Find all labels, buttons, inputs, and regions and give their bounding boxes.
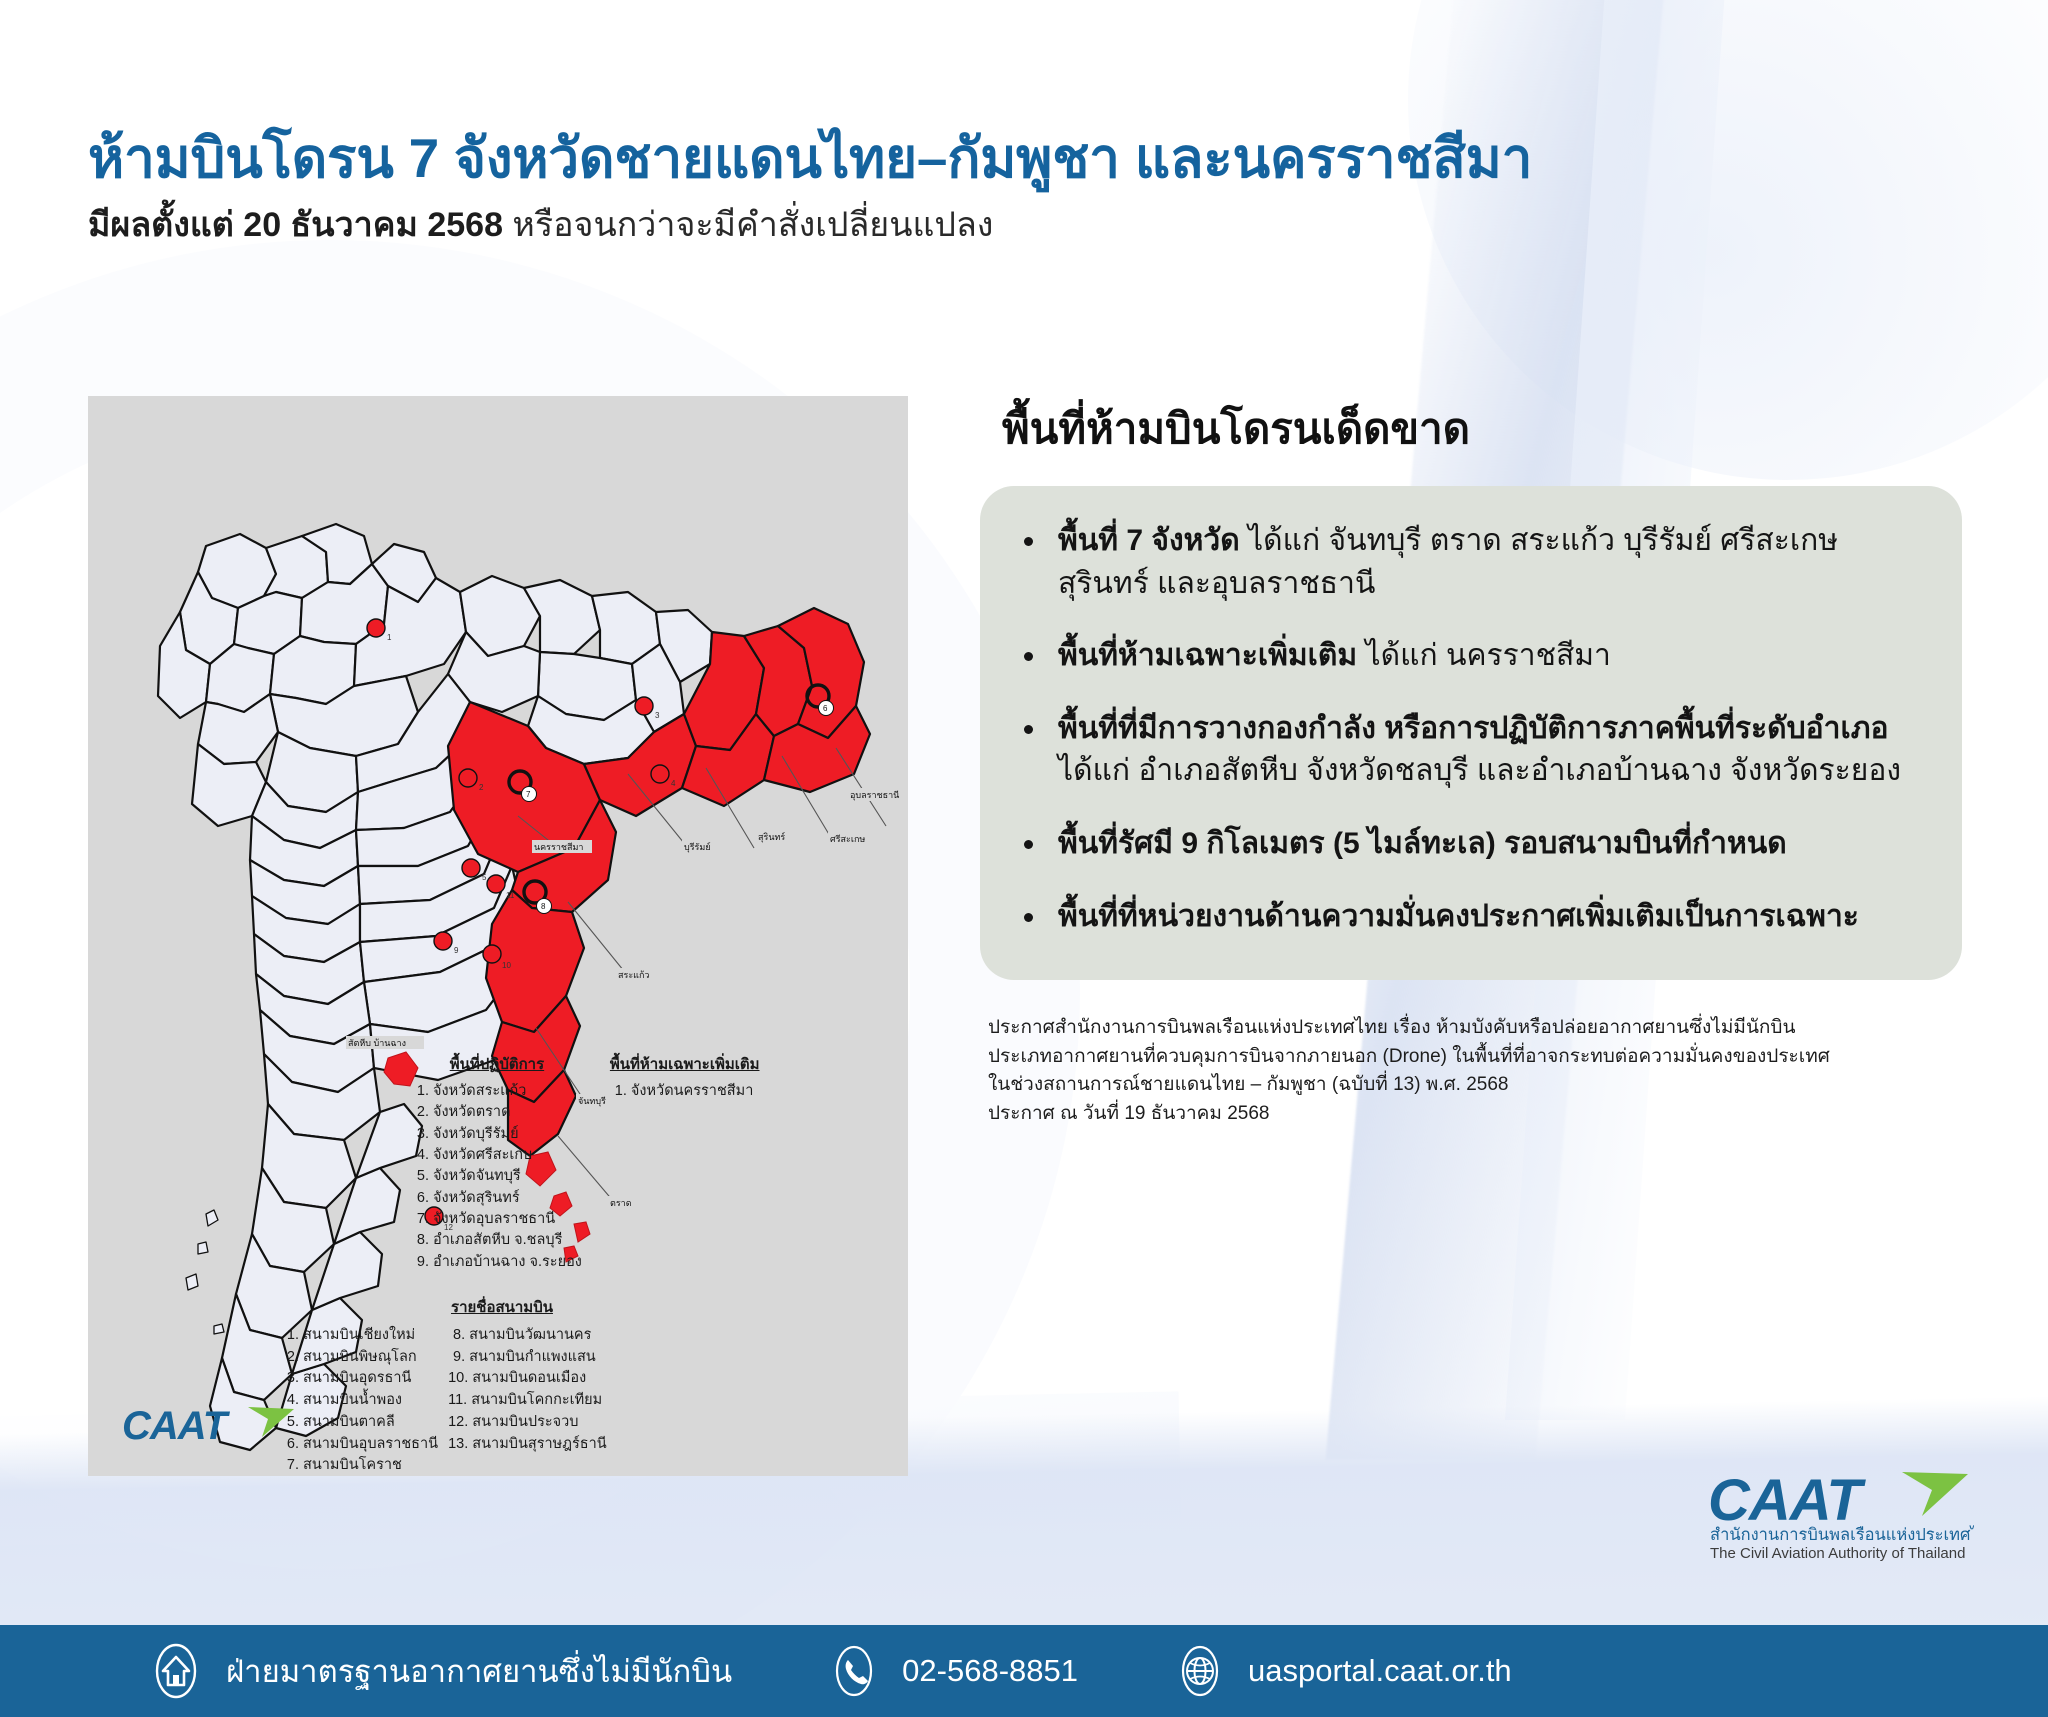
list-item: 1. จังหวัดนครราชสีมา — [610, 1081, 760, 1102]
svg-text:4: 4 — [671, 779, 676, 788]
bullet-bold-text: พื้นที่รัศมี 9 กิโลเมตร (5 ไมล์ทะเล) รอบ… — [1058, 827, 1787, 860]
bullet-bold-text: พื้นที่ที่มีการวางกองกำลัง หรือการปฏิบัต… — [1058, 712, 1889, 745]
svg-text:นครราชสีมา: นครราชสีมา — [534, 842, 583, 852]
header: ห้ามบินโดรน 7 จังหวัดชายแดนไทย–กัมพูชา แ… — [88, 128, 1948, 246]
footnote-line: ประเภทอากาศยานที่ควบคุมการบินจากภายนอก (… — [988, 1043, 1980, 1072]
footer-department-label: ฝ่ายมาตรฐานอากาศยานซึ่งไม่มีนักบิน — [226, 1646, 732, 1696]
svg-text:สระแก้ว: สระแก้ว — [618, 970, 649, 980]
list-item: 13. สนามบินสุราษฎร์ธานี — [448, 1434, 607, 1456]
svg-text:บุรีรัมย์: บุรีรัมย์ — [684, 841, 711, 853]
bullet-bold-text: พื้นที่ 7 จังหวัด — [1058, 524, 1240, 557]
map-province-label-sisaket: ศรีสะเกษ — [828, 832, 878, 845]
list-item: พื้นที่ที่มีการวางกองกำลัง หรือการปฏิบัต… — [1014, 708, 1922, 793]
subtitle-suffix: หรือจนกว่าจะมีคำสั่งเปลี่ยนแปลง — [503, 206, 993, 244]
bullet-dot-icon — [1024, 652, 1033, 661]
svg-text:สุรินทร์: สุรินทร์ — [758, 831, 785, 843]
airport-list-column-1: 1. สนามบินเชียงใหม่ 2. สนามบินพิษณุโลก 3… — [282, 1325, 438, 1476]
phone-icon — [828, 1645, 880, 1697]
svg-text:2: 2 — [479, 783, 484, 792]
list-item: 9. สนามบินกำแพงแสน — [448, 1347, 607, 1369]
list-item: พื้นที่ที่หน่วยงานด้านความมั่นคงประกาศเพ… — [1014, 896, 1922, 939]
bullet-dot-icon — [1024, 840, 1033, 849]
page-title: ห้ามบินโดรน 7 จังหวัดชายแดนไทย–กัมพูชา แ… — [88, 128, 1948, 190]
list-item: 3. จังหวัดบุรีรัมย์ — [412, 1124, 582, 1145]
airport-legend-heading: รายชื่อสนามบิน — [282, 1295, 722, 1319]
legend-operations-area: พื้นที่ปฏิบัติการ 1. จังหวัดสระแก้ว 2. จ… — [412, 1052, 582, 1273]
legend-additional-area: พื้นที่ห้ามเฉพาะเพิ่มเติม 1. จังหวัดนครร… — [610, 1052, 760, 1273]
caat-logo-icon: CAAT สำนักงานการบินพลเรือนแห่งประเทศไทย … — [1706, 1468, 1974, 1564]
list-item: 9. อำเภอบ้านฉาง จ.ระยอง — [412, 1252, 582, 1273]
caat-thai-name: สำนักงานการบินพลเรือนแห่งประเทศไทย — [1710, 1525, 1974, 1544]
footnote-line: ในช่วงสถานการณ์ชายแดนไทย – กัมพูชา (ฉบับ… — [988, 1071, 1980, 1100]
svg-text:6: 6 — [823, 704, 828, 713]
footer-website-url[interactable]: uasportal.caat.or.th — [1248, 1653, 1512, 1689]
list-item: 7. สนามบินโคราช — [282, 1455, 438, 1476]
footer-website[interactable]: uasportal.caat.or.th — [1174, 1645, 1512, 1697]
caat-swoosh-icon — [1902, 1472, 1968, 1516]
list-item: 8. อำเภอสัตหีบ จ.ชลบุรี — [412, 1230, 582, 1251]
restricted-bullet-list: พื้นที่ 7 จังหวัด ได้แก่ จันทบุรี ตราด ส… — [1014, 520, 1922, 938]
page-subtitle: มีผลตั้งแต่ 20 ธันวาคม 2568 หรือจนกว่าจะ… — [88, 204, 1948, 247]
list-item: พื้นที่ห้ามเฉพาะเพิ่มเติม ได้แก่ นครราชส… — [1014, 635, 1922, 678]
list-item: 10. สนามบินดอนเมือง — [448, 1368, 607, 1390]
list-item: 5. สนามบินตาคลี — [282, 1412, 438, 1434]
announcement-footnote: ประกาศสำนักงานการบินพลเรือนแห่งประเทศไทย… — [988, 1014, 1980, 1128]
list-item: 1. สนามบินเชียงใหม่ — [282, 1325, 438, 1347]
thailand-map-panel: .prov { fill:#eceef6; stroke:#111; strok… — [88, 396, 908, 1476]
list-item: 3. สนามบินอุดรธานี — [282, 1368, 438, 1390]
footer-department: ฝ่ายมาตรฐานอากาศยานซึ่งไม่มีนักบิน — [148, 1643, 732, 1699]
caat-logo: CAAT สำนักงานการบินพลเรือนแห่งประเทศไทย … — [1706, 1468, 1974, 1569]
list-item: 8. สนามบินวัฒนานคร — [448, 1325, 607, 1347]
list-item: 11. สนามบินโคกกะเทียม — [448, 1390, 607, 1412]
bullet-bold-text: พื้นที่ที่หน่วยงานด้านความมั่นคงประกาศเพ… — [1058, 900, 1859, 933]
footnote-line: ประกาศสำนักงานการบินพลเรือนแห่งประเทศไทย… — [988, 1014, 1980, 1043]
legend-additional-heading: พื้นที่ห้ามเฉพาะเพิ่มเติม — [610, 1052, 760, 1076]
bullet-dot-icon — [1024, 537, 1033, 546]
bullet-dot-icon — [1024, 725, 1033, 734]
list-item: 6. สนามบินอุบลราชธานี — [282, 1434, 438, 1456]
map-province-label-sattahip-banchang: สัตหีบ บ้านฉาง — [346, 1036, 424, 1049]
map-province-label-ubon: อุบลราชธานี — [848, 788, 908, 801]
caat-logo-icon: CAAT — [122, 1403, 297, 1449]
bullet-rest-text: ได้แก่ อำเภอสัตหีบ จังหวัดชลบุรี และอำเภ… — [1058, 754, 1901, 787]
list-item: 7. จังหวัดอุบลราชธานี — [412, 1209, 582, 1230]
svg-text:9: 9 — [454, 946, 459, 955]
svg-text:8: 8 — [541, 902, 546, 911]
legend-additional-list: 1. จังหวัดนครราชสีมา — [610, 1081, 760, 1102]
map-province-label-korat: นครราชสีมา — [532, 840, 592, 853]
footer-bar: ฝ่ายมาตรฐานอากาศยานซึ่งไม่มีนักบิน 02-56… — [0, 1625, 2048, 1717]
list-item: 5. จังหวัดจันทบุรี — [412, 1166, 582, 1187]
list-item: 12. สนามบินประจวบ — [448, 1412, 607, 1434]
bullet-dot-icon — [1024, 913, 1033, 922]
home-icon — [148, 1643, 204, 1699]
svg-text:11: 11 — [506, 891, 515, 900]
svg-text:CAAT: CAAT — [122, 1404, 231, 1448]
infographic-poster: ห้ามบินโดรน 7 จังหวัดชายแดนไทย–กัมพูชา แ… — [0, 0, 2048, 1717]
legend-operations-heading: พื้นที่ปฏิบัติการ — [412, 1052, 582, 1076]
svg-text:5: 5 — [482, 873, 487, 882]
section-heading: พื้นที่ห้ามบินโดรนเด็ดขาด — [1002, 396, 1980, 462]
svg-text:7: 7 — [526, 790, 531, 799]
svg-text:3: 3 — [655, 711, 660, 720]
svg-text:1: 1 — [387, 633, 392, 642]
list-item: 4. จังหวัดศรีสะเกษ — [412, 1145, 582, 1166]
list-item: 4. สนามบินน้ำพอง — [282, 1390, 438, 1412]
list-item: 6. จังหวัดสุรินทร์ — [412, 1188, 582, 1209]
map-caat-watermark: CAAT — [122, 1403, 297, 1454]
svg-text:ศรีสะเกษ: ศรีสะเกษ — [830, 834, 865, 844]
footer-phone[interactable]: 02-568-8851 — [828, 1645, 1078, 1697]
subtitle-effective-date: มีผลตั้งแต่ 20 ธันวาคม 2568 — [88, 206, 503, 244]
restricted-area-card: พื้นที่ 7 จังหวัด ได้แก่ จันทบุรี ตราด ส… — [980, 486, 1962, 980]
bullet-rest-text: ได้แก่ นครราชสีมา — [1357, 639, 1611, 672]
map-province-label-sakaeo: สระแก้ว — [616, 968, 662, 981]
svg-text:10: 10 — [502, 961, 511, 970]
restricted-area-section: พื้นที่ห้ามบินโดรนเด็ดขาด พื้นที่ 7 จังห… — [980, 396, 1980, 1128]
list-item: พื้นที่ 7 จังหวัด ได้แก่ จันทบุรี ตราด ส… — [1014, 520, 1922, 605]
footnote-line: ประกาศ ณ วันที่ 19 ธันวาคม 2568 — [988, 1100, 1980, 1129]
list-item: พื้นที่รัศมี 9 กิโลเมตร (5 ไมล์ทะเล) รอบ… — [1014, 823, 1922, 866]
map-province-label-surin: สุรินทร์ — [756, 830, 801, 843]
svg-text:สัตหีบ บ้านฉาง: สัตหีบ บ้านฉาง — [348, 1038, 406, 1048]
airport-list-column-2: 8. สนามบินวัฒนานคร 9. สนามบินกำแพงแสน 10… — [448, 1325, 607, 1476]
bullet-bold-text: พื้นที่ห้ามเฉพาะเพิ่มเติม — [1058, 639, 1357, 672]
footer-phone-number[interactable]: 02-568-8851 — [902, 1653, 1078, 1689]
caat-wordmark: CAAT — [1708, 1468, 1866, 1533]
legend-operations-list: 1. จังหวัดสระแก้ว 2. จังหวัดตราด 3. จังห… — [412, 1081, 582, 1273]
caat-english-name: The Civil Aviation Authority of Thailand — [1710, 1545, 1965, 1562]
map-province-label-buriram: บุรีรัมย์ — [682, 840, 727, 853]
list-item: 1. จังหวัดสระแก้ว — [412, 1081, 582, 1102]
svg-text:อุบลราชธานี: อุบลราชธานี — [850, 790, 899, 801]
list-item: 2. จังหวัดตราด — [412, 1102, 582, 1123]
list-item: 2. สนามบินพิษณุโลก — [282, 1347, 438, 1369]
globe-icon — [1174, 1645, 1226, 1697]
